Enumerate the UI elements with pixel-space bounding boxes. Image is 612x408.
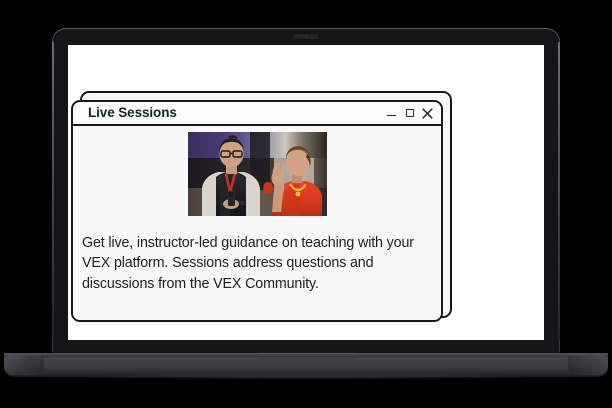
- base-lip-notch: [257, 353, 355, 360]
- session-photo: [188, 132, 327, 216]
- base-shadow: [40, 374, 572, 380]
- lid-edge-highlight-right: [558, 42, 560, 342]
- scene-root: Live Sessions: [0, 0, 612, 408]
- camera-lens-icon: [305, 35, 308, 38]
- laptop-screen: Live Sessions: [68, 45, 544, 340]
- base-left-end: [4, 355, 44, 375]
- maximize-icon[interactable]: [404, 108, 415, 119]
- window-controls: [386, 108, 433, 119]
- window-titlebar[interactable]: Live Sessions: [73, 102, 441, 126]
- minimize-icon[interactable]: [386, 108, 397, 119]
- window-title: Live Sessions: [88, 106, 177, 120]
- lid-edge-highlight-left: [52, 42, 54, 342]
- session-description: Get live, instructor-led guidance on tea…: [82, 233, 427, 294]
- laptop-lid: Live Sessions: [52, 28, 560, 354]
- live-sessions-window[interactable]: Live Sessions: [71, 100, 443, 322]
- window-content: Get live, instructor-led guidance on tea…: [73, 126, 441, 320]
- close-icon[interactable]: [422, 108, 433, 119]
- base-right-end: [568, 355, 608, 375]
